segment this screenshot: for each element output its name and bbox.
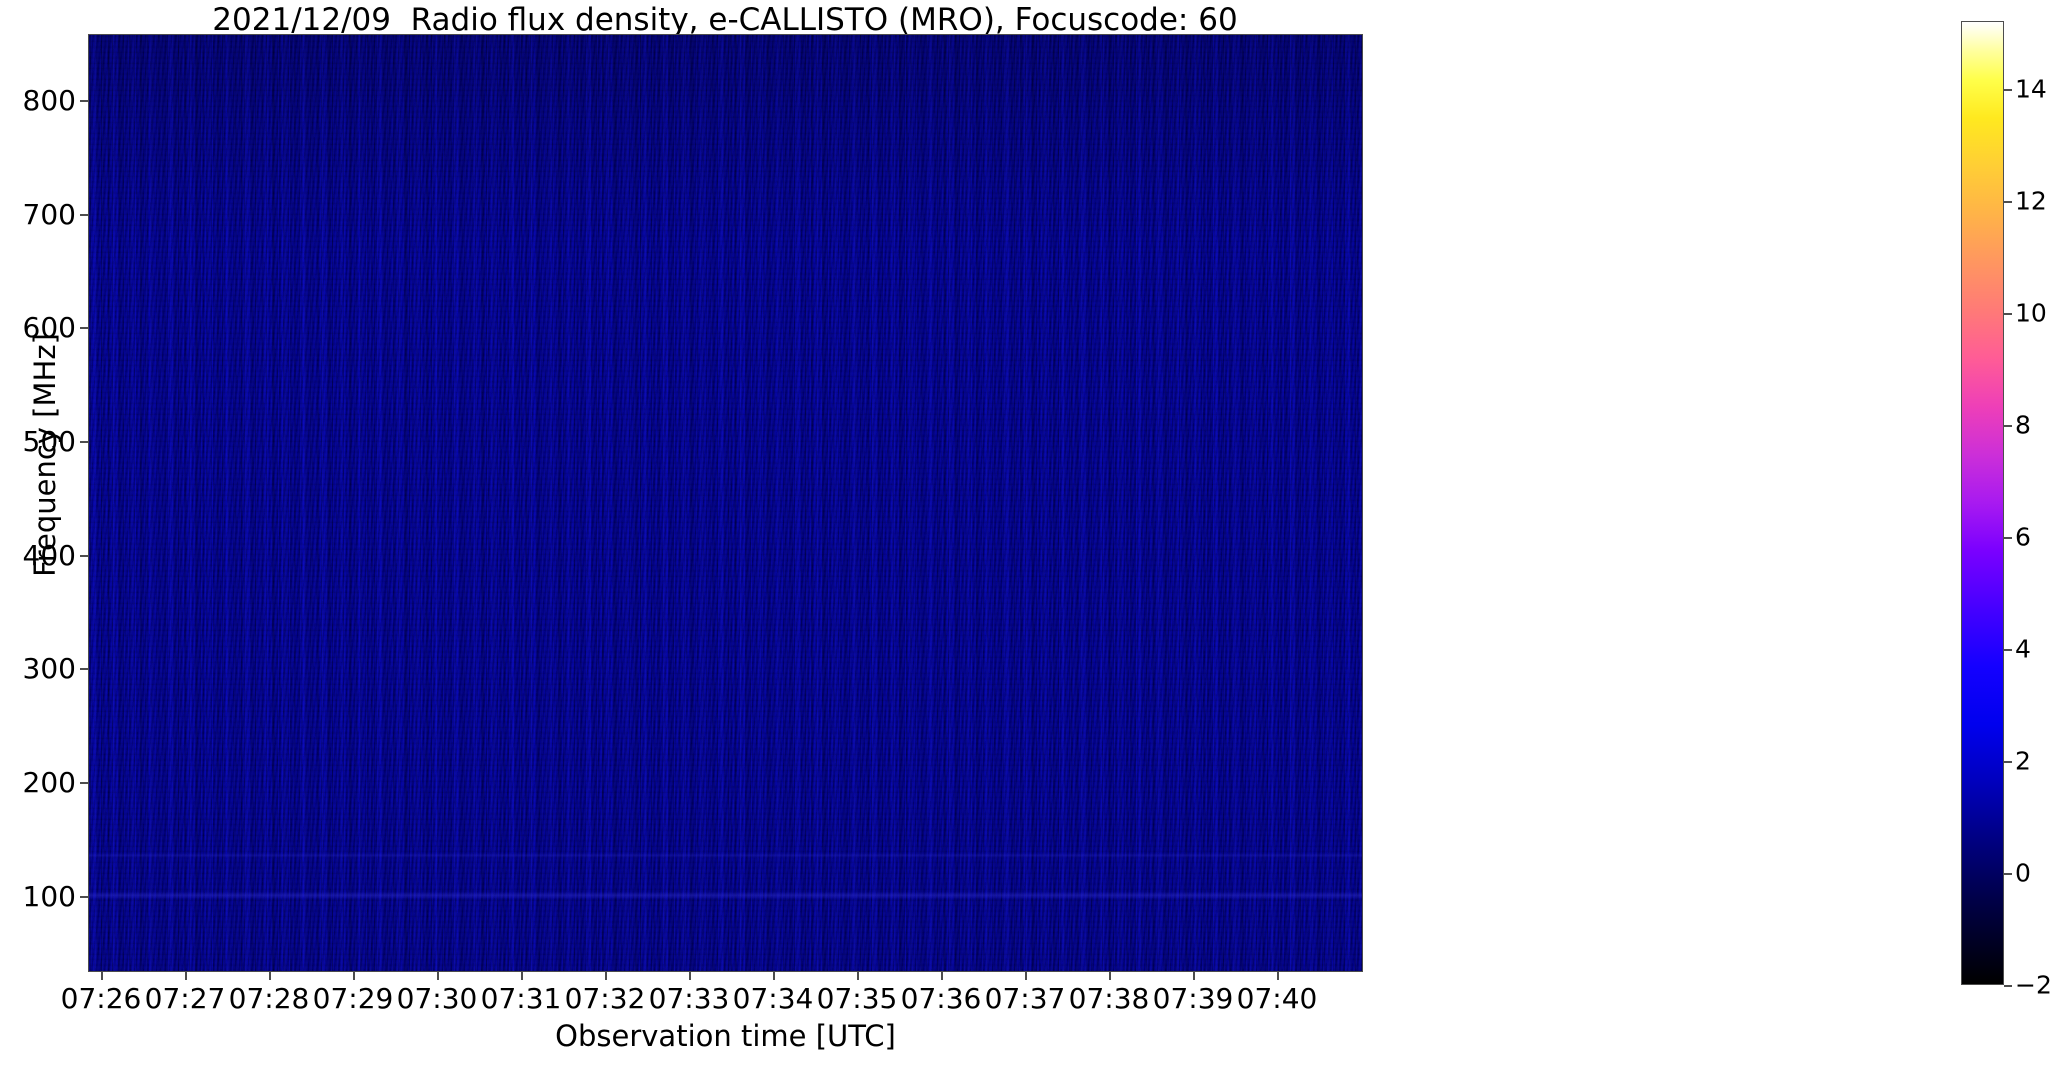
- colorbar: −2 0 2 4 6 8 10 12 14: [1961, 21, 2004, 985]
- x-tick-mark: [101, 972, 103, 980]
- y-tick-label: 600: [0, 311, 76, 344]
- colorbar-tick-mark: [2004, 313, 2012, 315]
- x-tick-mark: [269, 972, 271, 980]
- x-tick-mark: [689, 972, 691, 980]
- x-tick-mark: [521, 972, 523, 980]
- y-tick-label: 400: [0, 539, 76, 572]
- colorbar-tick-mark: [2004, 425, 2012, 427]
- x-tick-mark: [437, 972, 439, 980]
- y-tick-mark: [80, 441, 88, 443]
- y-tick-label: 500: [0, 425, 76, 458]
- y-tick-label: 200: [0, 766, 76, 799]
- x-tick-mark: [1277, 972, 1279, 980]
- y-tick-label: 300: [0, 652, 76, 685]
- spectrogram-plot-area: [88, 34, 1363, 972]
- y-tick-label: 800: [0, 84, 76, 117]
- x-tick-mark: [1109, 972, 1111, 980]
- colorbar-tick-label: 8: [2015, 411, 2031, 440]
- x-axis-label: Observation time [UTC]: [88, 1019, 1363, 1053]
- colorbar-tick-label: 12: [2015, 187, 2047, 216]
- x-tick-mark: [773, 972, 775, 980]
- colorbar-tick-label: 0: [2015, 859, 2031, 888]
- x-tick-label: 07:40: [1207, 982, 1347, 1015]
- x-tick-mark: [857, 972, 859, 980]
- colorbar-tick-label: 14: [2015, 75, 2047, 104]
- y-tick-mark: [80, 668, 88, 670]
- x-tick-mark: [1025, 972, 1027, 980]
- y-tick-mark: [80, 782, 88, 784]
- y-tick-label: 100: [0, 880, 76, 913]
- x-tick-mark: [605, 972, 607, 980]
- spectrogram-vignette: [89, 35, 1362, 971]
- colorbar-tick-mark: [2004, 201, 2012, 203]
- y-tick-mark: [80, 327, 88, 329]
- x-tick-mark: [941, 972, 943, 980]
- colorbar-gradient: [1961, 21, 2004, 985]
- colorbar-tick-label: 10: [2015, 299, 2047, 328]
- colorbar-tick-mark: [2004, 873, 2012, 875]
- y-tick-mark: [80, 896, 88, 898]
- colorbar-tick-mark: [2004, 537, 2012, 539]
- colorbar-tick-label: −2: [2015, 971, 2052, 1000]
- y-tick-mark: [80, 100, 88, 102]
- y-tick-mark: [80, 555, 88, 557]
- x-tick-mark: [185, 972, 187, 980]
- colorbar-tick-label: 4: [2015, 635, 2031, 664]
- colorbar-tick-mark: [2004, 89, 2012, 91]
- y-tick-mark: [80, 214, 88, 216]
- x-tick-mark: [1193, 972, 1195, 980]
- spectrogram-figure: 2021/12/09 Radio flux density, e-CALLIST…: [0, 0, 2066, 1067]
- chart-title: 2021/12/09 Radio flux density, e-CALLIST…: [0, 2, 1450, 38]
- colorbar-tick-label: 2: [2015, 747, 2031, 776]
- x-tick-mark: [353, 972, 355, 980]
- y-tick-label: 700: [0, 198, 76, 231]
- colorbar-tick-mark: [2004, 985, 2012, 987]
- colorbar-tick-mark: [2004, 761, 2012, 763]
- colorbar-tick-mark: [2004, 649, 2012, 651]
- colorbar-tick-label: 6: [2015, 523, 2031, 552]
